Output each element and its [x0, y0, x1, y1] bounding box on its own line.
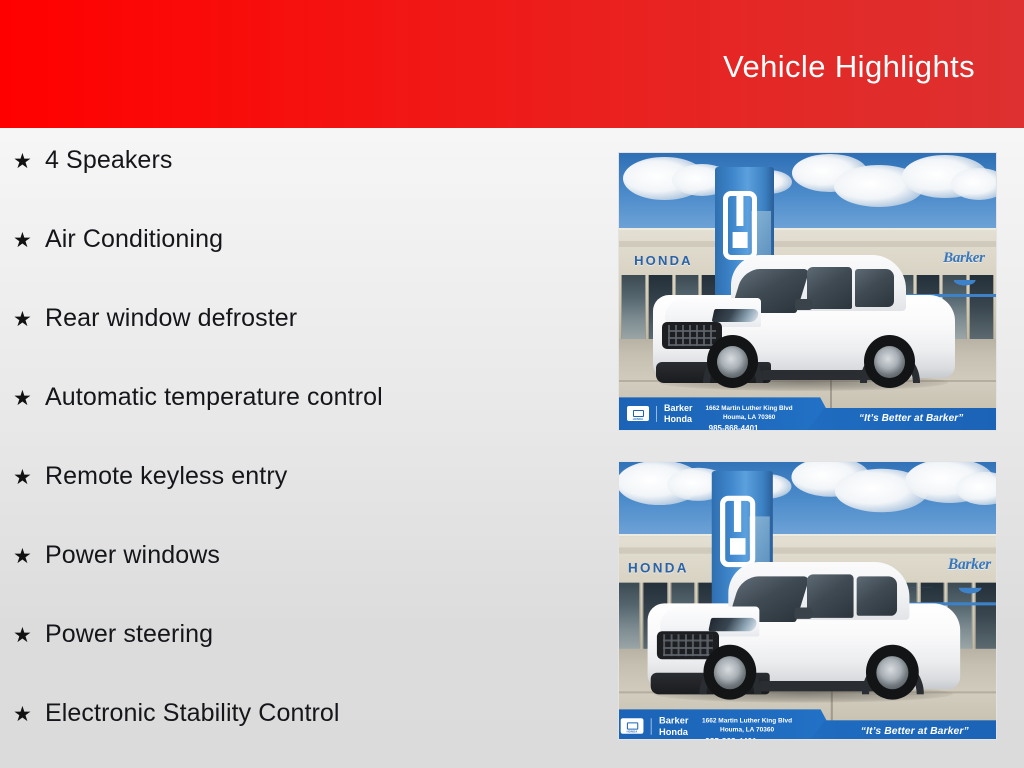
list-item: ★ Power windows: [0, 541, 600, 620]
feature-label: 4 Speakers: [45, 146, 172, 175]
honda-badge-icon: HONDA: [621, 718, 644, 734]
list-item: ★ Automatic temperature control: [0, 383, 600, 462]
dealer-name-line2: Honda: [659, 726, 689, 737]
dealer-tagline: “It’s Better at Barker”: [841, 726, 969, 737]
feature-label: Power windows: [45, 541, 220, 570]
dealer-phone: 985-868-4401: [709, 424, 759, 430]
dealer-banner: HONDA Barker Honda 1662 Martin Luther Ki…: [619, 699, 996, 739]
list-item: ★ Rear window defroster: [0, 304, 600, 383]
star-icon: ★: [13, 388, 45, 409]
page-header: Vehicle Highlights: [0, 0, 1024, 128]
list-item: ★ Power steering: [0, 620, 600, 699]
star-icon: ★: [13, 151, 45, 172]
vehicle-photo-secondary[interactable]: HONDA Barker: [618, 461, 997, 740]
feature-label: Air Conditioning: [45, 225, 223, 254]
list-item: ★ Air Conditioning: [0, 225, 600, 304]
feature-label: Remote keyless entry: [45, 462, 287, 491]
dealer-name-line1: Barker: [659, 715, 689, 726]
star-icon: ★: [13, 309, 45, 330]
star-icon: ★: [13, 467, 45, 488]
honda-logo-icon: [723, 191, 757, 260]
feature-label: Rear window defroster: [45, 304, 297, 333]
honda-badge-icon: HONDA: [627, 406, 649, 421]
list-item: ★ Electronic Stability Control: [0, 699, 600, 768]
feature-label: Electronic Stability Control: [45, 699, 340, 728]
dealer-address-line2: Houma, LA 70360: [702, 726, 792, 735]
page-title: Vehicle Highlights: [723, 49, 975, 85]
honda-badge-label: HONDA: [627, 418, 649, 421]
dealer-tagline: “It’s Better at Barker”: [840, 413, 963, 424]
dealer-name-line2: Honda: [664, 414, 693, 424]
feature-label: Automatic temperature control: [45, 383, 383, 412]
feature-label: Power steering: [45, 620, 213, 649]
dealer-address-line1: 1662 Martin Luther King Blvd: [702, 717, 792, 726]
star-icon: ★: [13, 546, 45, 567]
dealer-banner: HONDA Barker Honda 1662 Martin Luther Ki…: [619, 387, 996, 430]
list-item: ★ Remote keyless entry: [0, 462, 600, 541]
dealer-address-line2: Houma, LA 70360: [706, 414, 793, 423]
honda-badge-label: HONDA: [621, 731, 644, 734]
vehicle-suv: [653, 255, 955, 388]
list-item: ★ 4 Speakers: [0, 146, 600, 225]
star-icon: ★: [13, 230, 45, 251]
vehicle-photo-primary[interactable]: HONDA Barker: [618, 152, 997, 431]
dealer-name-line1: Barker: [664, 403, 693, 413]
star-icon: ★: [13, 625, 45, 646]
vehicle-highlights-list: ★ 4 Speakers ★ Air Conditioning ★ Rear w…: [0, 128, 600, 768]
dealer-phone: 985-868-4401: [705, 737, 757, 739]
honda-logo-icon: [720, 496, 755, 567]
star-icon: ★: [13, 704, 45, 725]
vehicle-suv: [648, 562, 960, 700]
dealer-address-line1: 1662 Martin Luther King Blvd: [706, 405, 793, 414]
